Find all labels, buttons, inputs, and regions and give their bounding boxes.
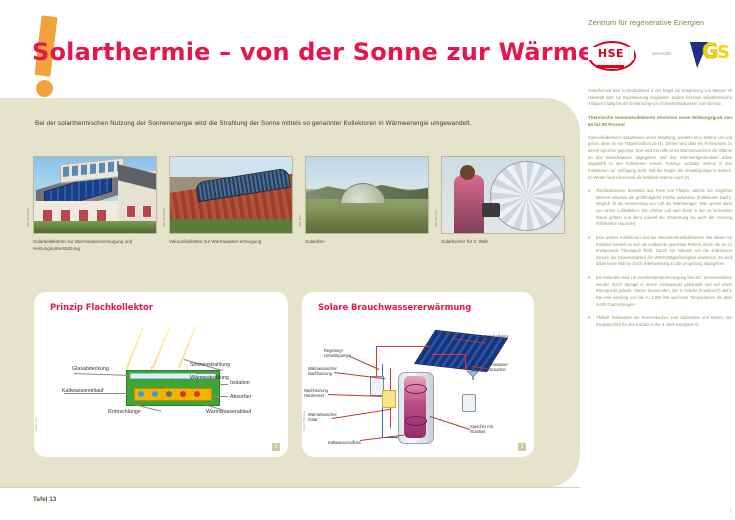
sidebar-text-column: Solarthermie wird in Deutschland in der … bbox=[588, 88, 732, 335]
photo-caption-3: Solarofen bbox=[305, 239, 427, 246]
photo-credit-3: Bild: DLR bbox=[299, 215, 302, 226]
card-flat-number: 1 bbox=[272, 443, 280, 451]
photo-frame-solarkollektoren bbox=[33, 156, 157, 234]
label-sonnenstrahlung: Sonnenstrahlung bbox=[190, 362, 230, 368]
absorber-plate bbox=[134, 388, 212, 401]
photo-credit-2: Bild: BSW-Solar bbox=[163, 207, 166, 226]
card-water-title: Solare Brauchwassererwärmung bbox=[318, 302, 471, 312]
photo-frame-solarofen bbox=[305, 156, 429, 234]
photo-item-1: Bild: BSW-Solar Solarkollektoren zur War… bbox=[33, 156, 155, 252]
photo-solar-cooker bbox=[442, 157, 564, 233]
list-item-number: 5. bbox=[588, 275, 591, 282]
list-item-number: 3. bbox=[588, 188, 591, 195]
label-kaltwasserzufluss: Kaltwasserzufluss bbox=[328, 440, 361, 445]
poster-page: Solarthermie – von der Sonne zur Wärme Z… bbox=[0, 0, 735, 520]
heat-exchanger-coil-bottom bbox=[405, 416, 427, 426]
list-item-text: Ähnlich funktioniert ein Sonnenkocher zu… bbox=[596, 315, 732, 327]
photo-frame-solarkocher bbox=[441, 156, 565, 234]
label-kaltwassereinlauf: Kaltwassereinlauf bbox=[62, 388, 104, 394]
lgs-s-text: S bbox=[717, 42, 730, 63]
list-item-number: 4. bbox=[588, 235, 591, 242]
label-waermestrahlung: Wärmestrahlung bbox=[190, 375, 229, 381]
list-item-number: 6. bbox=[588, 315, 591, 322]
hse-logo: HSE bbox=[588, 39, 634, 69]
logo-row: HSE unterstützt G S bbox=[588, 34, 733, 74]
list-item-text: Ein Solarofen wird zur Hochtemperaturerz… bbox=[596, 275, 732, 307]
photo-caption-4: Solarkocher für 3. Welt bbox=[441, 239, 563, 246]
lgs-g-text: G bbox=[702, 39, 718, 63]
radiator-unit bbox=[462, 394, 476, 412]
label-waermetauscher-solar: Wärmetauscher Solar bbox=[308, 412, 337, 423]
card-flat-collector: Prinzip Flachkollektor ↑ ↓ ↑ ↓ ↑ ↑ ↑ Son… bbox=[34, 292, 288, 457]
card-water-credit: Quelle: BSW-Solar bbox=[303, 411, 306, 431]
logo-heading: Zentrum für regenerative Energien bbox=[588, 18, 733, 27]
sidebar-paragraph-1: Solarthermie wird in Deutschland in der … bbox=[588, 88, 732, 108]
heat-exchanger-coil-top bbox=[405, 384, 427, 394]
footer-divider bbox=[0, 487, 580, 488]
photo-item-4: Bild: EG-Solar Solarkocher für 3. Welt bbox=[441, 156, 563, 246]
label-glasabdeckung: Glasabdeckung bbox=[72, 366, 109, 372]
photo-item-3: Bild: DLR Solarofen bbox=[305, 156, 427, 246]
label-nachheizung-heizkessel: Nachheizung Heizkessel bbox=[304, 388, 328, 399]
photo-credit-1: Bild: BSW-Solar bbox=[27, 207, 30, 226]
list-item: 4. Eine weitere Kollektorart sind die Va… bbox=[588, 235, 732, 268]
sidebar-heading: Thermische Sonnenkollektoren erreichen e… bbox=[588, 115, 732, 129]
photo-item-2: Bild: BSW-Solar Vakuumkollektor zur Warm… bbox=[169, 156, 291, 246]
label-warmwasserverbraucher: Warmwasser- verbraucher bbox=[484, 362, 509, 373]
label-solarkollektor: Solarkollektor bbox=[484, 334, 509, 339]
lgs-logo: G S bbox=[689, 38, 733, 70]
label-warmwasserablauf: Warmwasserablauf bbox=[206, 409, 251, 415]
hot-water-diagram: Solarkollektor Regelung+ Umwälzpumpe Wär… bbox=[302, 324, 534, 452]
flat-collector-diagram: ↑ ↓ ↑ ↓ ↑ ↑ ↑ Sonnenstrahlung Wärmestrah… bbox=[34, 326, 288, 451]
photo-frame-vakuumkollektor bbox=[169, 156, 293, 234]
photo-solar-furnace bbox=[306, 157, 428, 233]
tafel-label: Tafel 13 bbox=[33, 496, 56, 503]
list-item-text: Flachkollektoren bestehen aus Form von P… bbox=[596, 188, 732, 226]
sidebar-paragraph-2: Sonnenkollektoren absorbieren einen Stra… bbox=[588, 135, 732, 181]
label-rohrschlange: Rohrschlange bbox=[108, 409, 141, 415]
label-absorber: Absorber bbox=[230, 394, 252, 400]
tap-icon bbox=[466, 370, 480, 380]
photo-vacuum-collector bbox=[170, 157, 292, 233]
intro-text: Bei der solarthermischen Nutzung der Son… bbox=[35, 120, 555, 127]
card-flat-title: Prinzip Flachkollektor bbox=[50, 302, 153, 312]
list-item-text: Eine weitere Kollektorart sind die Vakuu… bbox=[596, 235, 732, 267]
photo-house-solar-roof bbox=[34, 157, 156, 233]
label-isolation: Isolation bbox=[230, 380, 250, 386]
hse-logo-text: HSE bbox=[588, 47, 634, 60]
list-item: 5. Ein Solarofen wird zur Hochtemperatur… bbox=[588, 275, 732, 308]
photo-strip: Bild: BSW-Solar Solarkollektoren zur War… bbox=[33, 156, 563, 266]
label-regelung-umwaelzpumpe: Regelung+ Umwälzpumpe bbox=[324, 348, 351, 359]
boiler-unit bbox=[382, 390, 396, 408]
hse-bar-icon bbox=[596, 65, 624, 68]
exclamation-dot-icon bbox=[36, 80, 53, 97]
label-waermetauscher-nachheizung: Wärmetauscher Nachheizung bbox=[308, 366, 337, 377]
photo-credit-4: Bild: EG-Solar bbox=[435, 210, 438, 226]
page-title: Solarthermie – von der Sonne zur Wärme bbox=[32, 38, 552, 66]
card-water-number: 2 bbox=[518, 443, 526, 451]
supported-label: unterstützt bbox=[647, 52, 677, 57]
photo-caption-2: Vakuumkollektor zur Warmwasser-erzeugung bbox=[169, 239, 291, 246]
sidebar-numbered-list: 3. Flachkollektoren bestehen aus Form vo… bbox=[588, 188, 732, 328]
card-hot-water: Solare Brauchwassererwärmung Solarkollek… bbox=[302, 292, 534, 457]
list-item: 6. Ähnlich funktioniert ein Sonnenkocher… bbox=[588, 315, 732, 328]
edge-credit: Zentrum für regenerative Energien · HSE … bbox=[729, 508, 732, 520]
card-flat-credit: Quelle: BINE bbox=[35, 417, 38, 431]
list-item: 3. Flachkollektoren bestehen aus Form vo… bbox=[588, 188, 732, 228]
label-speicher-isolation: Speicher mit Isolation bbox=[470, 424, 493, 435]
photo-caption-1: Solarkollektoren zur Warmwassererzeugung… bbox=[33, 239, 155, 252]
